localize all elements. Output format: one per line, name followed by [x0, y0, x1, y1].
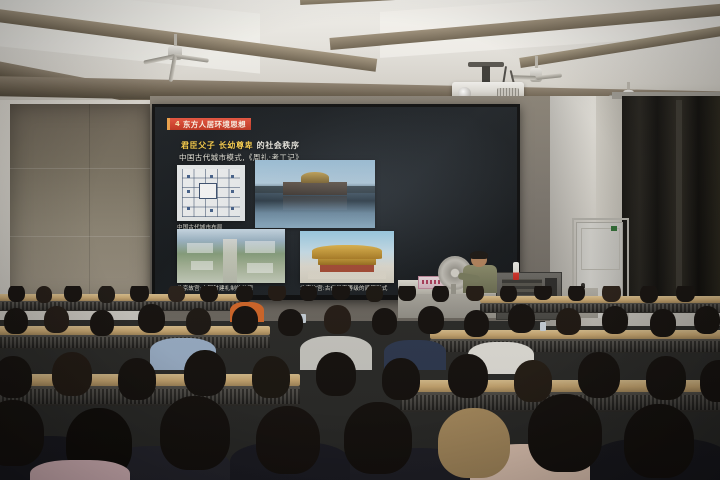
audience-head [8, 286, 25, 302]
audience-head [236, 286, 253, 302]
audience-head-foreground-blond [438, 408, 510, 478]
panel-seam [10, 168, 153, 169]
audience-head [602, 306, 628, 334]
audience-head [694, 306, 720, 334]
audience-head [44, 306, 69, 333]
audience-head [0, 356, 32, 398]
seated-audience [0, 286, 720, 480]
audience-head [398, 286, 416, 301]
audience-head [98, 286, 115, 303]
audience-head [130, 286, 149, 302]
audience-head [200, 286, 218, 302]
audience-head [448, 354, 488, 398]
lecturer [462, 252, 498, 290]
lecture-hall-photo: 4 东方人居环境思想 君臣父子 长幼尊卑 的社会秩序 中国古代城市模式,《周礼·… [0, 0, 720, 480]
audience-head [646, 356, 686, 400]
mobile-phone [540, 322, 546, 331]
audience-head [640, 286, 658, 303]
audience-head [556, 308, 581, 335]
audience-head [186, 308, 211, 335]
audience-head [278, 309, 303, 336]
acoustic-wall-panel [10, 104, 153, 302]
audience-head [578, 352, 620, 398]
lecturer-hair [470, 251, 488, 259]
audience-head [500, 286, 517, 302]
audience-head [64, 286, 82, 302]
water-bottle [513, 262, 519, 280]
panel-seam [10, 236, 153, 237]
audience-head-foreground [344, 402, 412, 474]
audience-head [232, 306, 258, 334]
seat-vent [0, 337, 270, 348]
audience-head [382, 358, 420, 400]
audience-shoulders [30, 460, 130, 480]
desk-row [0, 326, 270, 335]
audience-head [184, 350, 226, 396]
audience-head [508, 304, 535, 333]
audience-head [324, 305, 351, 334]
audience-head [514, 360, 552, 402]
window-curtain [622, 96, 720, 308]
audience-head [332, 286, 350, 300]
audience-head [252, 356, 290, 398]
audience-head-foreground [0, 400, 44, 466]
audience-head [52, 352, 92, 396]
audience-head [36, 286, 52, 303]
audience-head [676, 286, 695, 302]
audience-head [316, 352, 356, 396]
audience-head [4, 308, 28, 334]
audience-head [418, 306, 444, 334]
audience-head [138, 304, 165, 333]
audience-head [432, 286, 449, 302]
exit-sign [611, 226, 617, 231]
audience-head [300, 286, 317, 301]
audience-head-foreground [256, 406, 320, 474]
audience-head [268, 286, 286, 301]
audience-head [534, 286, 552, 300]
ceiling-fan-icon [510, 56, 562, 84]
audience-head [168, 286, 185, 302]
audience-head [602, 286, 621, 302]
door-panel [581, 228, 620, 270]
audience-head [118, 358, 156, 400]
audience-head [372, 308, 397, 335]
audience-head-foreground [528, 394, 602, 472]
audience-head [700, 360, 720, 402]
audience-head [366, 286, 383, 302]
ceiling-fan-icon [140, 34, 210, 68]
audience-head [568, 286, 585, 301]
audience-head [464, 310, 489, 337]
audience-head-foreground [160, 396, 230, 470]
window-frame [676, 100, 682, 300]
audience-head [650, 309, 676, 337]
audience-head [90, 310, 114, 336]
audience-head [466, 286, 484, 301]
audience-head-foreground [624, 404, 694, 478]
